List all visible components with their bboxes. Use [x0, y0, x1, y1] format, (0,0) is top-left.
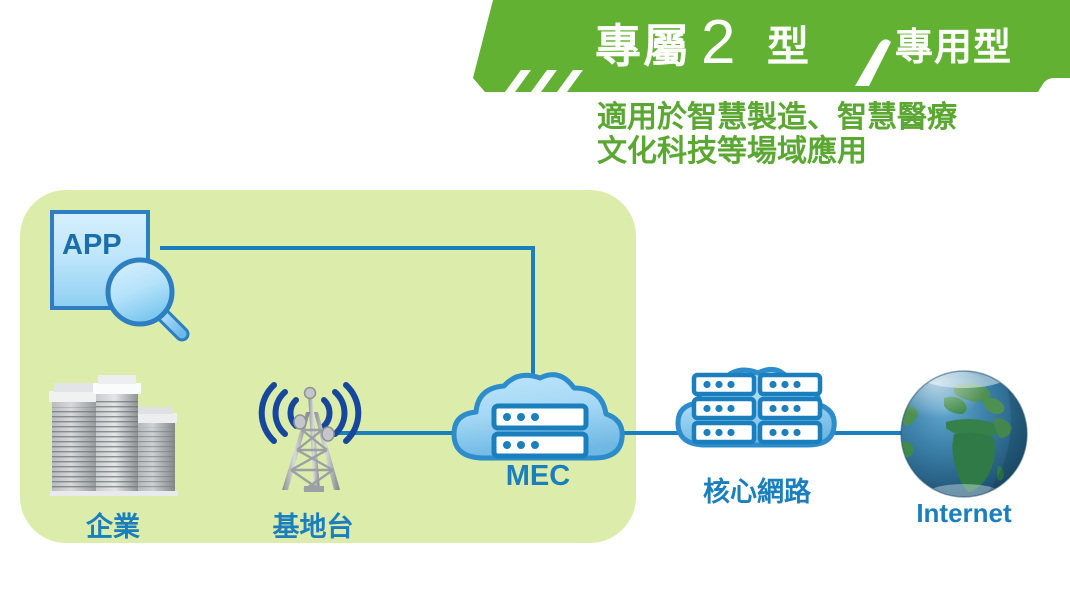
connector-app-to-mec-horizontal [160, 246, 535, 250]
cell-tower-icon [258, 370, 368, 498]
subtitle-block: 適用於智慧製造、智慧醫療 文化科技等場域應用 [597, 101, 1057, 169]
subtitle-line-1: 適用於智慧製造、智慧醫療 [597, 101, 1057, 135]
header-banner: 專屬 2 型 專用型 [455, 0, 1070, 95]
base-station-label: 基地台 [253, 505, 373, 544]
internet-label: Internet [898, 498, 1030, 529]
diagram-canvas: 專屬 2 型 專用型 適用於智慧製造、智慧醫療 文化科技等場域應用 APP [0, 0, 1070, 591]
globe-icon [898, 368, 1030, 500]
office-building-icon [38, 373, 188, 498]
core-network-label: 核心網路 [677, 470, 837, 509]
mec-label: MEC [458, 460, 618, 493]
enterprise-label: 企業 [38, 505, 188, 544]
cloud-server-stack-icon [672, 365, 842, 465]
cloud-server-icon [448, 372, 628, 467]
connector-app-to-mec-vertical [531, 246, 535, 391]
subtitle-line-2: 文化科技等場域應用 [597, 135, 1057, 169]
banner-shape [455, 0, 1070, 95]
banner-background [473, 0, 1070, 92]
magnifier-icon [104, 256, 204, 346]
